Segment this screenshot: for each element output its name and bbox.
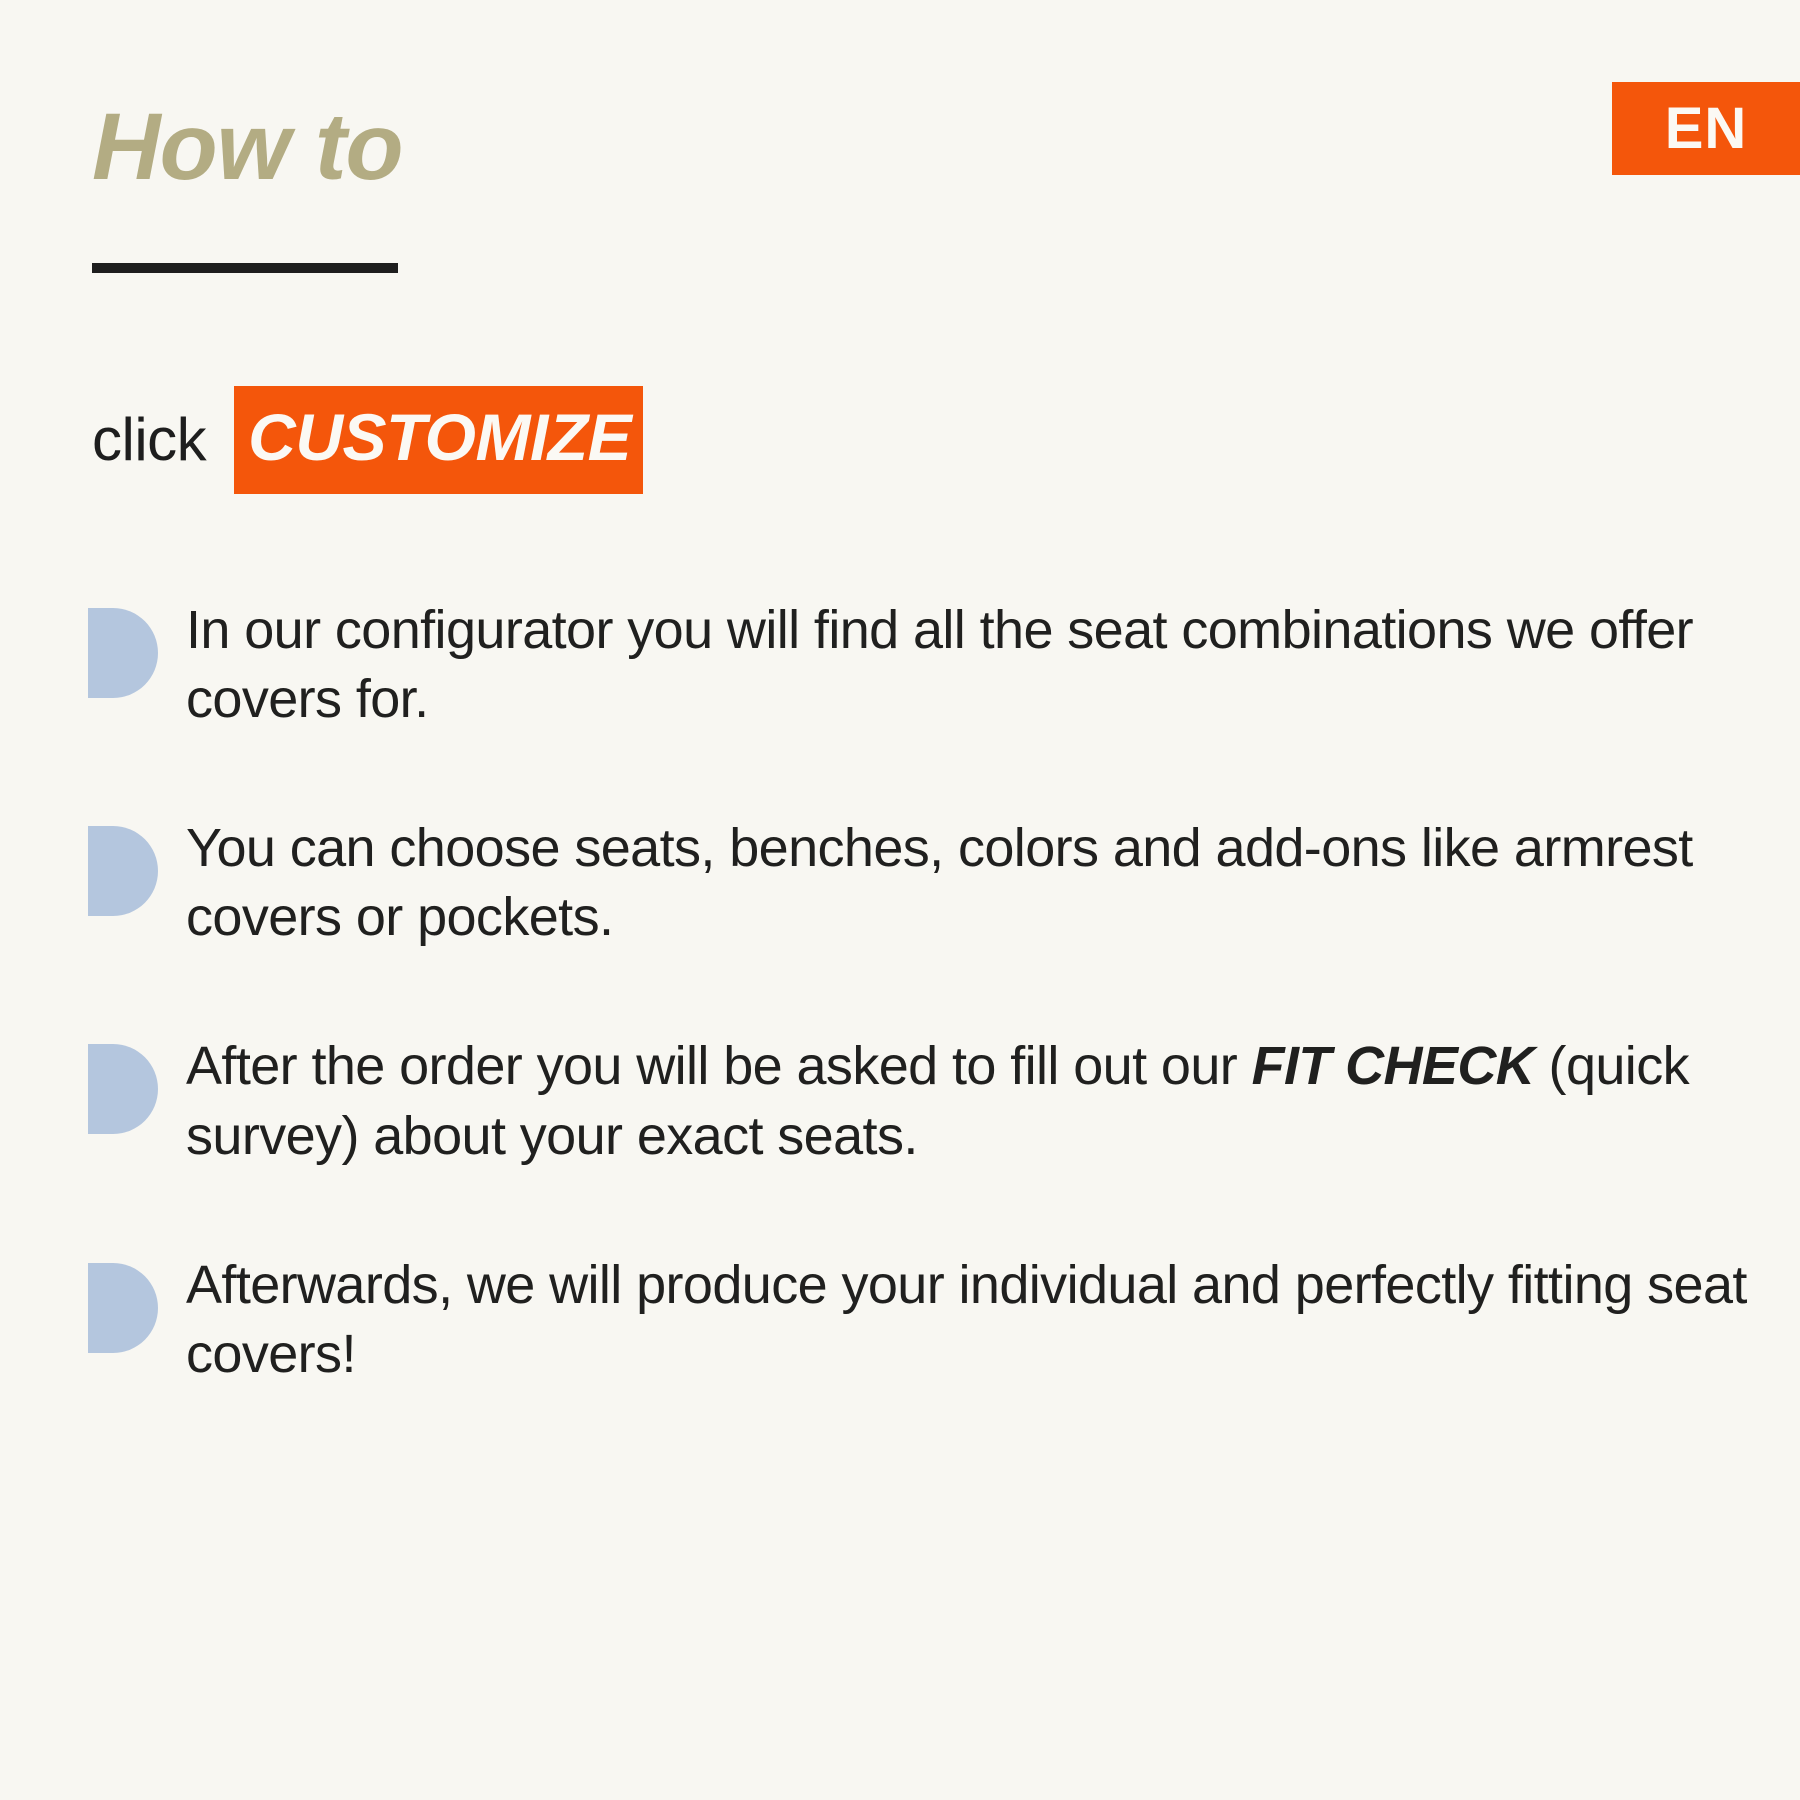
half-circle-bullet-icon bbox=[88, 608, 158, 698]
cta-prefix-label: click bbox=[92, 410, 206, 470]
customize-call-to-action: click CUSTOMIZE bbox=[92, 386, 643, 494]
list-item: After the order you will be asked to fil… bbox=[88, 1032, 1748, 1170]
how-to-instruction-card: EN How to click CUSTOMIZE In our configu… bbox=[0, 0, 1800, 1800]
list-item-text: Afterwards, we will produce your individ… bbox=[186, 1251, 1748, 1389]
instruction-list: In our configurator you will find all th… bbox=[88, 596, 1748, 1389]
list-item: You can choose seats, benches, colors an… bbox=[88, 814, 1748, 952]
page-title: How to bbox=[92, 98, 403, 198]
list-item-text: In our configurator you will find all th… bbox=[186, 596, 1748, 734]
list-item: In our configurator you will find all th… bbox=[88, 596, 1748, 734]
list-item-text: You can choose seats, benches, colors an… bbox=[186, 814, 1748, 952]
half-circle-bullet-icon bbox=[88, 1044, 158, 1134]
title-underline-rule bbox=[92, 263, 398, 273]
language-badge[interactable]: EN bbox=[1612, 82, 1800, 175]
language-badge-label: EN bbox=[1665, 100, 1748, 158]
customize-button-highlight[interactable]: CUSTOMIZE bbox=[234, 386, 643, 494]
list-item-text: After the order you will be asked to fil… bbox=[186, 1032, 1748, 1170]
half-circle-bullet-icon bbox=[88, 826, 158, 916]
half-circle-bullet-icon bbox=[88, 1263, 158, 1353]
list-item: Afterwards, we will produce your individ… bbox=[88, 1251, 1748, 1389]
